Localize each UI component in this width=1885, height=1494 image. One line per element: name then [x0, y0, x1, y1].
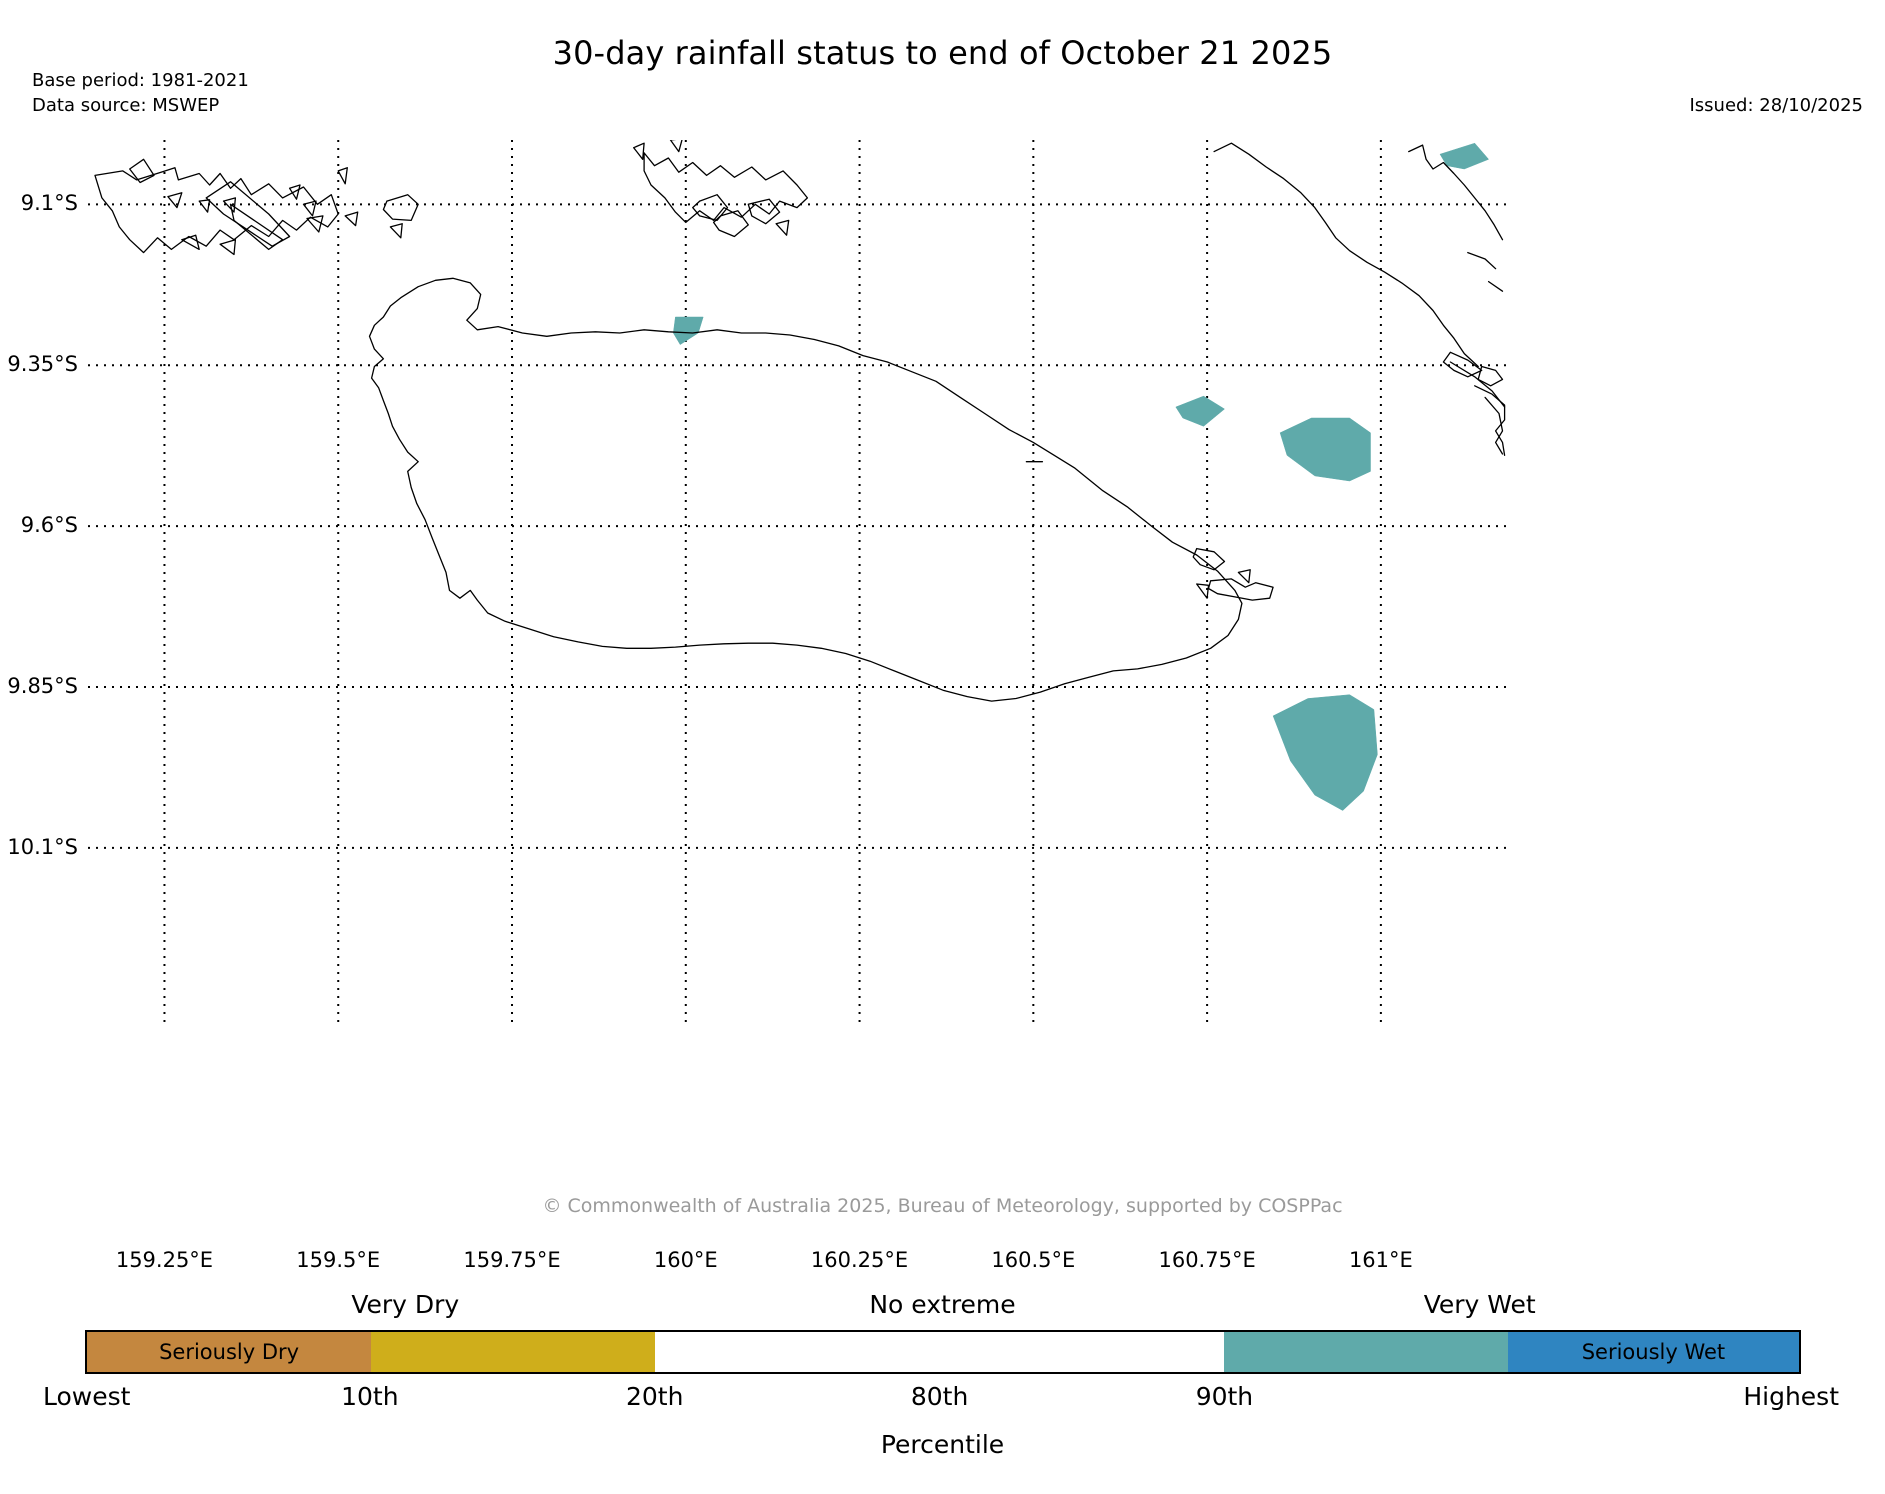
x-tick-label: 160.5°E — [991, 1248, 1075, 1272]
y-tick-label: 9.35°S — [0, 352, 78, 376]
legend-segment-no-extreme[interactable] — [655, 1332, 939, 1372]
legend-caption-very-wet: Very Wet — [1424, 1290, 1536, 1319]
issued-date-text: Issued: 28/10/2025 — [1689, 95, 1863, 116]
legend-tick-highest: Highest — [1743, 1382, 1839, 1411]
copyright-text: © Commonwealth of Australia 2025, Bureau… — [0, 1195, 1885, 1217]
legend-segment-seriously-wet[interactable]: Seriously Wet — [1508, 1332, 1799, 1372]
legend-segment-very-wet[interactable] — [1224, 1332, 1508, 1372]
x-tick-label: 159.75°E — [463, 1248, 560, 1272]
legend-tick-10th: 10th — [341, 1382, 398, 1411]
base-period-text: Base period: 1981-2021 — [32, 70, 249, 91]
x-tick-label: 159.25°E — [116, 1248, 213, 1272]
legend-segment-blank[interactable] — [940, 1332, 1224, 1372]
map-canvas — [88, 140, 1506, 1028]
percentile-polygons — [673, 143, 1488, 810]
percentile-legend: Very Dry No extreme Very Wet Seriously D… — [0, 1290, 1885, 1490]
legend-axis-label: Percentile — [0, 1430, 1885, 1459]
map-gridlines — [88, 140, 1506, 1028]
y-tick-label: 9.1°S — [0, 191, 78, 215]
y-tick-label: 9.6°S — [0, 513, 78, 537]
legend-tick-20th: 20th — [626, 1382, 683, 1411]
x-tick-label: 160.75°E — [1158, 1248, 1255, 1272]
legend-segment-label: Seriously Dry — [159, 1340, 299, 1364]
coastline-outlines — [95, 140, 1505, 701]
legend-tick-90th: 90th — [1196, 1382, 1253, 1411]
x-tick-label: 160°E — [654, 1248, 718, 1272]
y-tick-label: 9.85°S — [0, 674, 78, 698]
page-title: 30-day rainfall status to end of October… — [0, 34, 1885, 72]
legend-caption-no-extreme: No extreme — [869, 1290, 1015, 1319]
legend-caption-very-dry: Very Dry — [351, 1290, 459, 1319]
x-tick-label: 159.5°E — [296, 1248, 380, 1272]
legend-tick-80th: 80th — [911, 1382, 968, 1411]
x-tick-label: 161°E — [1349, 1248, 1413, 1272]
x-tick-label: 160.25°E — [811, 1248, 908, 1272]
legend-segment-very-dry[interactable] — [371, 1332, 655, 1372]
rainfall-percentile-map[interactable] — [88, 140, 1506, 1028]
legend-segment-label: Seriously Wet — [1582, 1340, 1725, 1364]
y-tick-label: 10.1°S — [0, 835, 78, 859]
legend-colorbar[interactable]: Seriously DrySeriously Wet — [85, 1330, 1801, 1374]
legend-tick-lowest: Lowest — [43, 1382, 130, 1411]
data-source-text: Data source: MSWEP — [32, 95, 219, 116]
legend-segment-seriously-dry[interactable]: Seriously Dry — [87, 1332, 371, 1372]
